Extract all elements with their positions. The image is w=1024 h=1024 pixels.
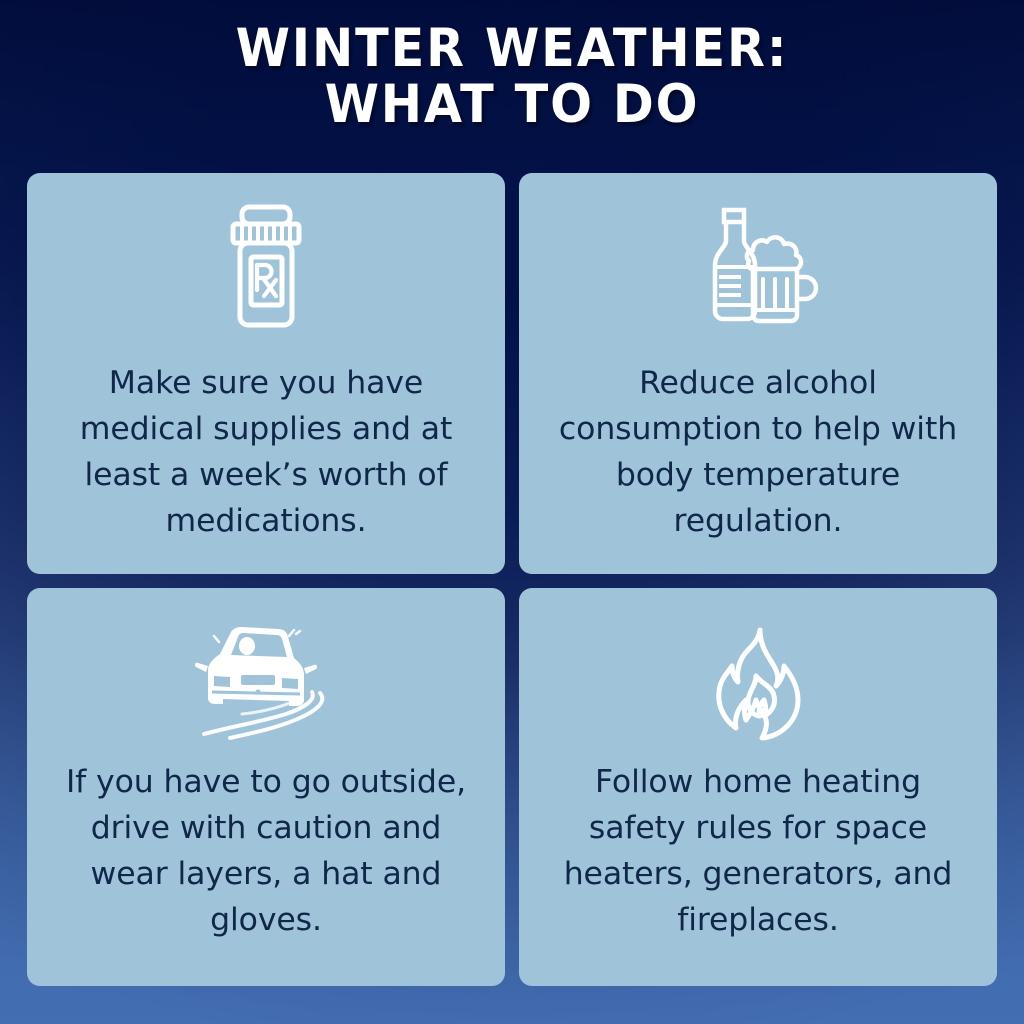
tip-card-driving-text: If you have to go outside, drive with ca… bbox=[55, 760, 477, 944]
pill-bottle-rx-icon bbox=[220, 203, 312, 329]
pill-bottle-rx-icon-wrap bbox=[27, 201, 505, 329]
car-with-skid-tracks-icon-wrap bbox=[27, 614, 505, 746]
title-line-primary: Winter Weather: bbox=[36, 22, 988, 76]
poster-title: Winter Weather: What to do bbox=[0, 22, 1024, 132]
flame-icon-wrap bbox=[519, 614, 997, 746]
tip-card-medications-text: Make sure you have medical supplies and … bbox=[55, 361, 477, 545]
tip-card-driving: If you have to go outside, drive with ca… bbox=[27, 588, 505, 986]
bottle-and-beer-mug-icon-wrap bbox=[519, 201, 997, 329]
tip-card-heating: Follow home heating safety rules for spa… bbox=[519, 588, 997, 986]
tips-card-grid: Make sure you have medical supplies and … bbox=[27, 173, 997, 986]
tip-card-alcohol: Reduce alcohol consumption to help with … bbox=[519, 173, 997, 574]
title-line-secondary: What to do bbox=[36, 78, 988, 132]
tip-card-medications: Make sure you have medical supplies and … bbox=[27, 173, 505, 574]
bottle-and-beer-mug-icon bbox=[693, 207, 823, 329]
tip-card-alcohol-text: Reduce alcohol consumption to help with … bbox=[547, 361, 969, 545]
car-with-skid-tracks-icon bbox=[186, 622, 346, 746]
winter-weather-infographic: Winter Weather: What to do bbox=[0, 0, 1024, 1024]
tip-card-heating-text: Follow home heating safety rules for spa… bbox=[547, 760, 969, 944]
flame-icon bbox=[706, 624, 810, 746]
